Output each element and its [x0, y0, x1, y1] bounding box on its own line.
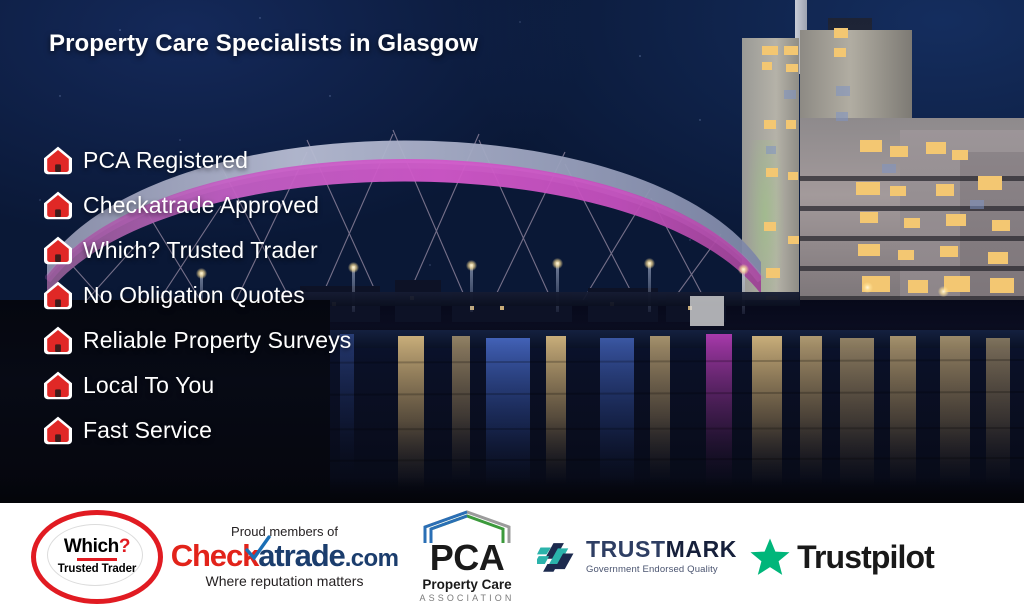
list-item-label: Checkatrade Approved: [83, 192, 319, 219]
trustmark-logo[interactable]: TRUSTMARK Government Endorsed Quality: [537, 503, 737, 610]
list-item-label: PCA Registered: [83, 147, 248, 174]
which-underline: [77, 558, 117, 561]
list-item: Checkatrade Approved: [42, 184, 351, 226]
trustmark-hexagon-icon: [537, 537, 577, 577]
photo-bottom-fade: [0, 477, 1024, 503]
which-question-mark: ?: [119, 536, 130, 557]
checkatrade-strapline-bottom: Where reputation matters: [206, 573, 364, 589]
house-icon: [42, 414, 74, 446]
page-title: Property Care Specialists in Glasgow: [49, 30, 478, 58]
checkatrade-com: .com: [345, 545, 399, 572]
house-icon: [42, 234, 74, 266]
pca-name-line1: Property Care: [422, 577, 511, 593]
house-icon: [42, 189, 74, 221]
accreditation-logo-bar: Which? Trusted Trader Proud members of C…: [0, 503, 1024, 610]
trustmark-tagline: Government Endorsed Quality: [586, 564, 737, 575]
list-item: Which? Trusted Trader: [42, 229, 351, 271]
checkatrade-wordmark: Checkatrade.com: [171, 540, 399, 571]
checkatrade-blue-text: atrade: [258, 538, 344, 573]
which-word: Which: [64, 536, 119, 557]
which-wordmark: Which?: [64, 537, 130, 561]
pca-acronym: PCA: [430, 540, 505, 576]
trustmark-word-trust: TRUST: [586, 536, 666, 562]
list-item: PCA Registered: [42, 139, 351, 181]
checkatrade-red-text: Chec: [171, 538, 242, 573]
list-item: No Obligation Quotes: [42, 274, 351, 316]
trustmark-word-mark: MARK: [666, 536, 737, 562]
star-icon: [750, 537, 790, 577]
list-item-label: Local To You: [83, 372, 214, 399]
list-item-label: Which? Trusted Trader: [83, 237, 318, 264]
house-icon: [42, 144, 74, 176]
list-item: Reliable Property Surveys: [42, 319, 351, 361]
bridge-banner: [690, 296, 724, 326]
pca-house-icon: [419, 510, 515, 544]
benefits-list: PCA Registered Checkatrade Approved: [42, 139, 351, 454]
list-item-label: Fast Service: [83, 417, 212, 444]
pca-name-line2: ASSOCIATION: [420, 593, 515, 603]
house-icon: [42, 369, 74, 401]
list-item-label: No Obligation Quotes: [83, 282, 305, 309]
which-trusted-trader-logo[interactable]: Which? Trusted Trader: [22, 503, 172, 610]
checkatrade-logo[interactable]: Proud members of Checkatrade.com Where r…: [172, 503, 397, 610]
list-item-label: Reliable Property Surveys: [83, 327, 351, 354]
hero-background-photo: Property Care Specialists in Glasgow PCA…: [0, 0, 1024, 503]
trustpilot-wordmark: Trustpilot: [797, 541, 934, 573]
property-care-banner: Property Care Specialists in Glasgow PCA…: [0, 0, 1024, 610]
house-icon: [42, 279, 74, 311]
pca-logo[interactable]: PCA Property Care ASSOCIATION: [397, 503, 537, 610]
trustpilot-logo[interactable]: Trustpilot: [737, 503, 947, 610]
checkmark-icon: [245, 535, 271, 563]
list-item: Fast Service: [42, 409, 351, 451]
house-icon: [42, 324, 74, 356]
trustmark-wordmark: TRUSTMARK: [586, 538, 737, 561]
list-item: Local To You: [42, 364, 351, 406]
which-subtitle: Trusted Trader: [58, 564, 137, 576]
